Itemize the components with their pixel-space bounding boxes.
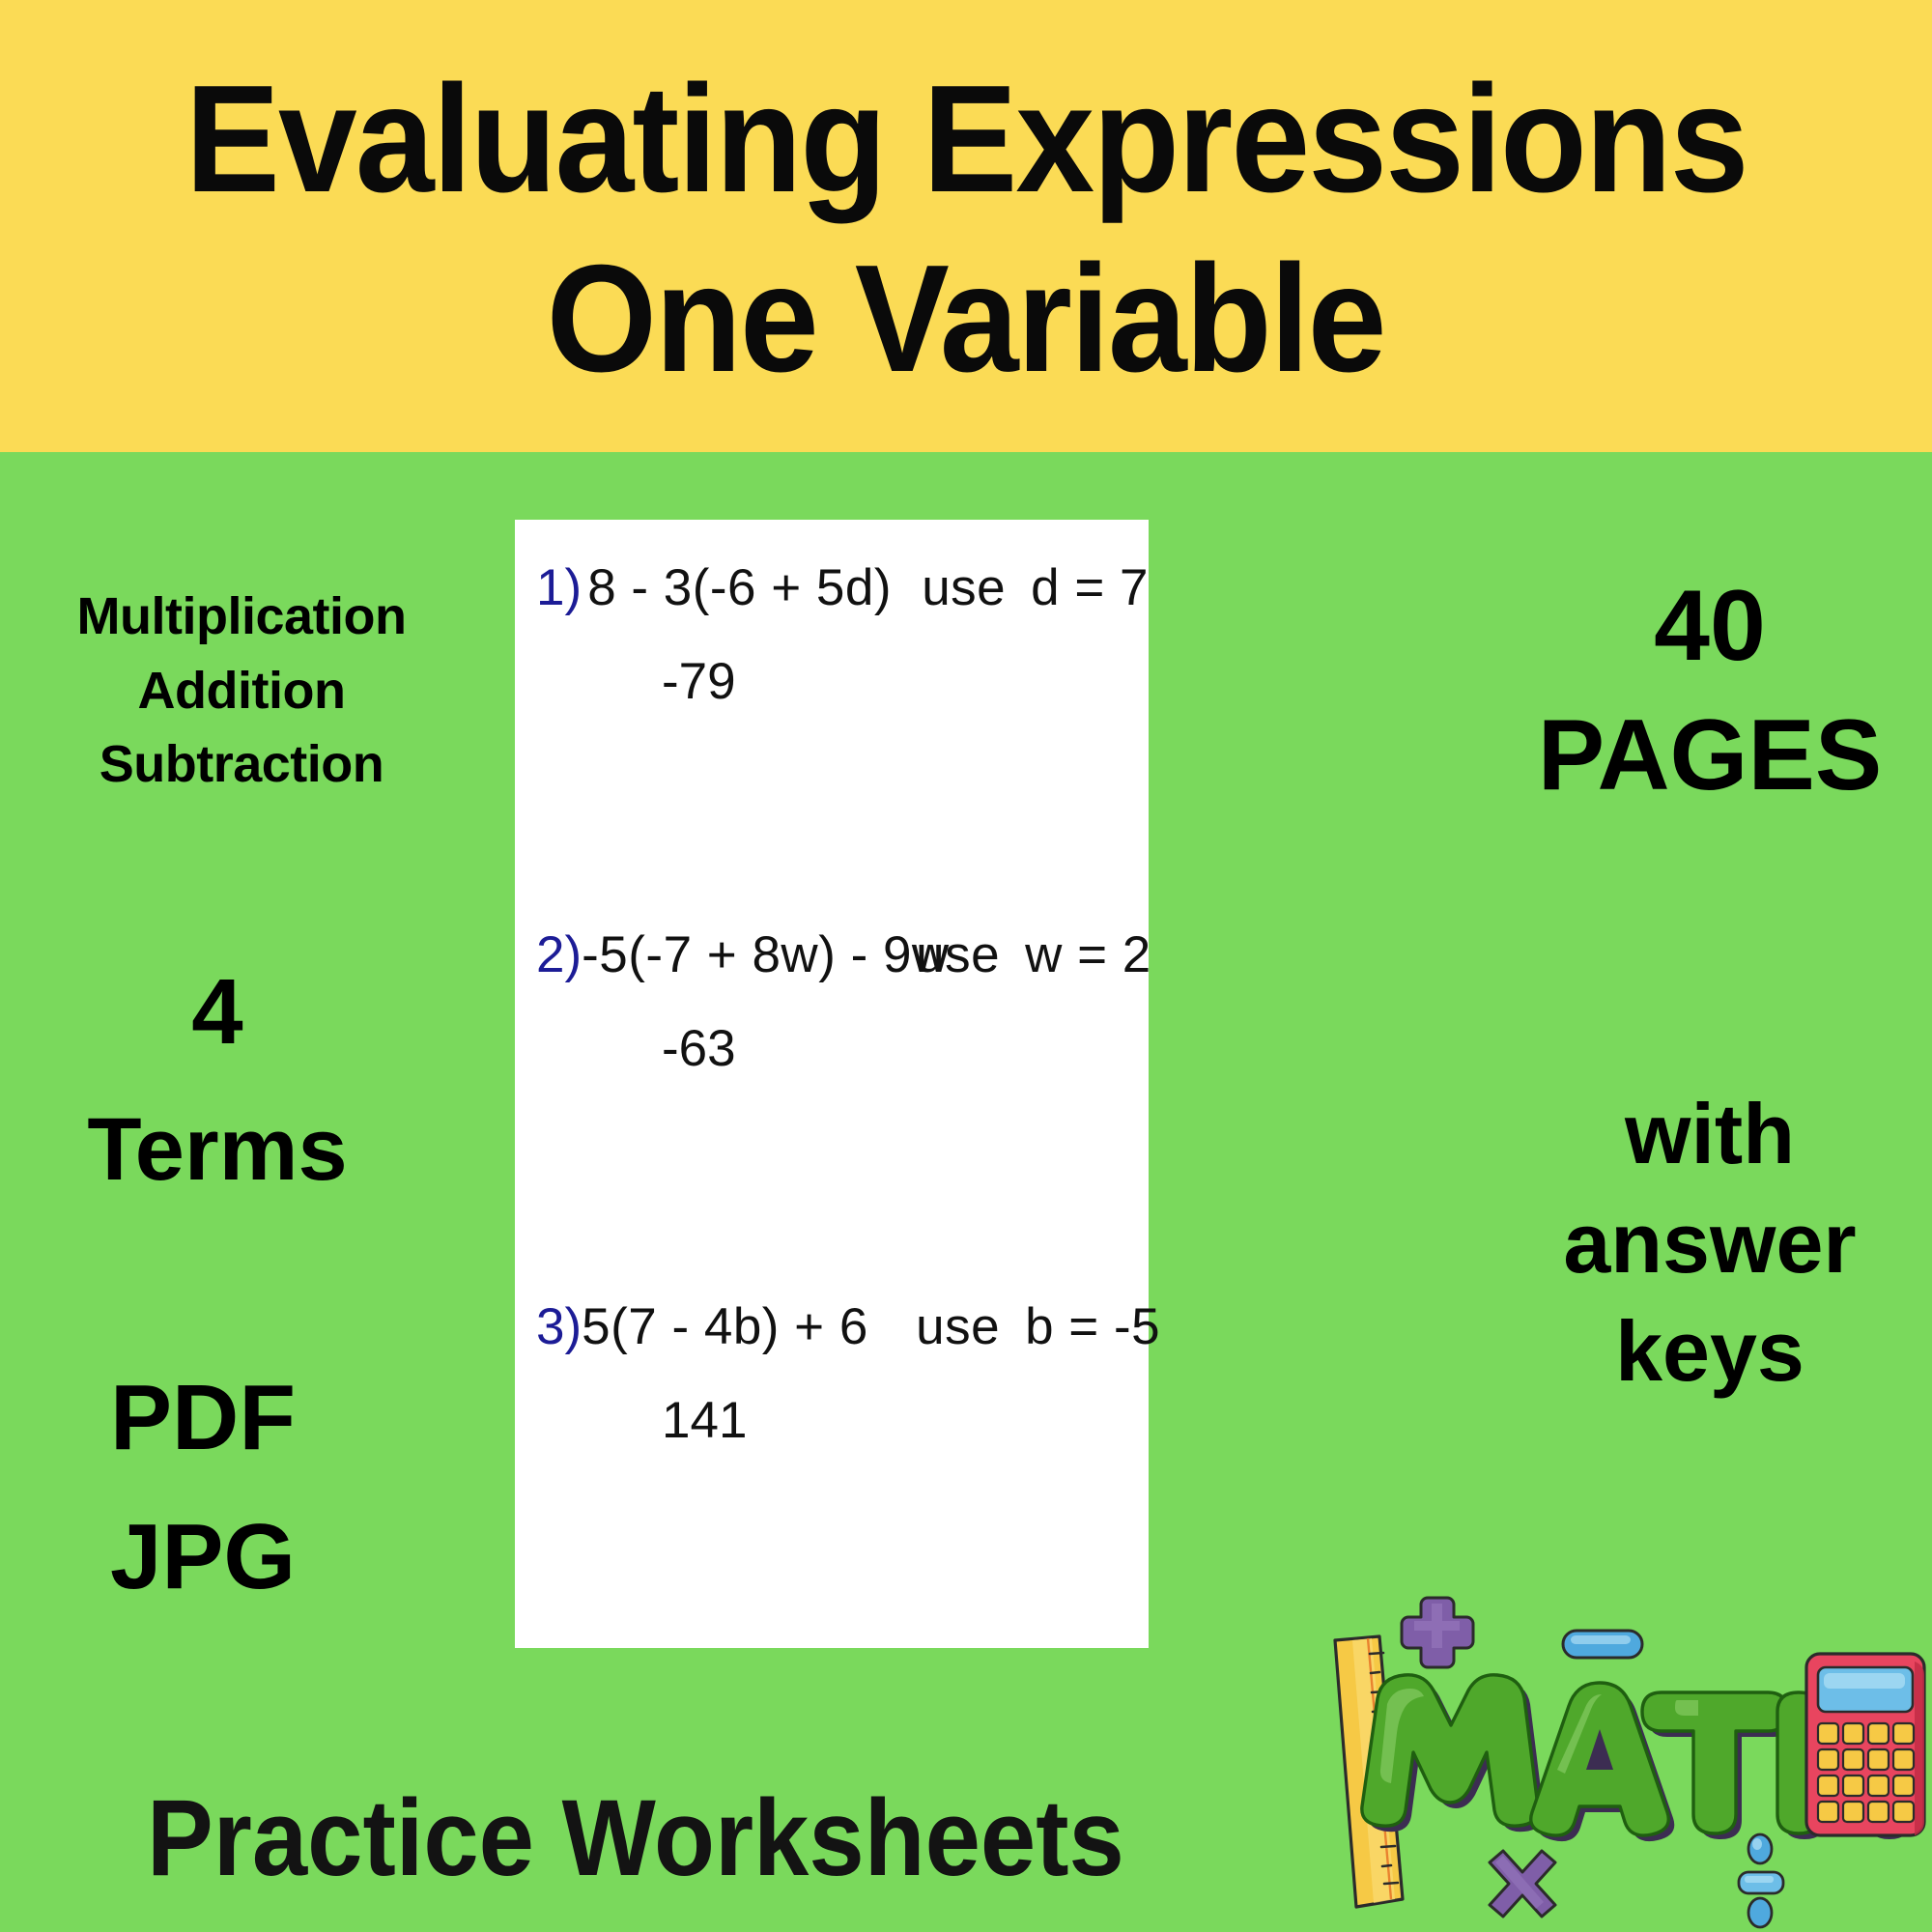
- footer-caption: Practice Worksheets: [147, 1776, 1124, 1900]
- problem-answer: -79: [662, 652, 1149, 711]
- worksheet-problem: 2) -5(-7 + 8w) - 9w usew = 2 -63: [515, 925, 1149, 1078]
- page-title-line-2: One Variable: [547, 242, 1385, 395]
- worksheet-problem: 1) 8 - 3(-6 + 5d) used = 7 -79: [515, 558, 1149, 711]
- terms-feature: 4 Terms: [0, 966, 435, 1194]
- divide-sign-icon: [1739, 1834, 1783, 1927]
- problem-number: 1): [515, 558, 587, 617]
- terms-label: Terms: [0, 1105, 435, 1194]
- variable-assignment: d = 7: [1031, 559, 1149, 616]
- problem-statement: 2) -5(-7 + 8w) - 9w usew = 2: [515, 925, 1149, 984]
- problem-substitution: usew = 2: [916, 925, 1151, 984]
- operation-item-multiplication: Multiplication: [0, 580, 483, 654]
- problem-answer: 141: [662, 1391, 1149, 1450]
- page-count-feature: 40 PAGES: [1488, 576, 1932, 806]
- answer-keys-line-3: keys: [1488, 1297, 1932, 1406]
- minus-sign-icon: [1563, 1631, 1642, 1658]
- file-formats-feature: PDF JPG: [0, 1372, 406, 1604]
- use-label: use: [922, 559, 1006, 616]
- problem-statement: 1) 8 - 3(-6 + 5d) used = 7: [515, 558, 1149, 617]
- problem-substitution: used = 7: [922, 558, 1149, 617]
- operation-item-addition: Addition: [0, 654, 483, 728]
- calculator-icon: [1806, 1654, 1924, 1835]
- header-band: Evaluating Expressions One Variable: [0, 0, 1932, 452]
- answer-keys-line-2: answer: [1488, 1189, 1932, 1298]
- problem-number: 3): [515, 1297, 582, 1356]
- problem-expression: 8 - 3(-6 + 5d): [587, 558, 922, 617]
- variable-assignment: b = -5: [1025, 1298, 1160, 1355]
- answer-keys-feature: with answer keys: [1488, 1080, 1932, 1406]
- problem-expression: -5(-7 + 8w) - 9w: [582, 925, 916, 984]
- problem-answer: -63: [662, 1019, 1149, 1078]
- answer-keys-line-1: with: [1488, 1080, 1932, 1189]
- math-clipart-group: MATH: [1323, 1580, 1932, 1932]
- problem-number: 2): [515, 925, 582, 984]
- operations-list: Multiplication Addition Subtraction: [0, 580, 483, 802]
- operation-item-subtraction: Subtraction: [0, 727, 483, 802]
- format-item-jpg: JPG: [0, 1511, 406, 1604]
- page-title-line-1: Evaluating Expressions: [185, 63, 1747, 215]
- variable-assignment: w = 2: [1025, 926, 1151, 983]
- poster-canvas: Evaluating Expressions One Variable Mult…: [0, 0, 1932, 1932]
- problem-expression: 5(7 - 4b) + 6: [582, 1297, 916, 1356]
- page-count-label: PAGES: [1488, 705, 1932, 806]
- problem-substitution: useb = -5: [916, 1297, 1160, 1356]
- problem-statement: 3) 5(7 - 4b) + 6 useb = -5: [515, 1297, 1149, 1356]
- page-count-number: 40: [1488, 576, 1932, 676]
- worksheet-problem: 3) 5(7 - 4b) + 6 useb = -5 141: [515, 1297, 1149, 1450]
- format-item-pdf: PDF: [0, 1372, 406, 1464]
- multiply-sign-icon: [1490, 1851, 1555, 1917]
- use-label: use: [916, 926, 1000, 983]
- worksheet-preview-card: 1) 8 - 3(-6 + 5d) used = 7 -79 2) -5(-7 …: [515, 520, 1149, 1648]
- plus-sign-icon: [1402, 1598, 1473, 1667]
- use-label: use: [916, 1298, 1000, 1355]
- terms-count: 4: [0, 966, 435, 1059]
